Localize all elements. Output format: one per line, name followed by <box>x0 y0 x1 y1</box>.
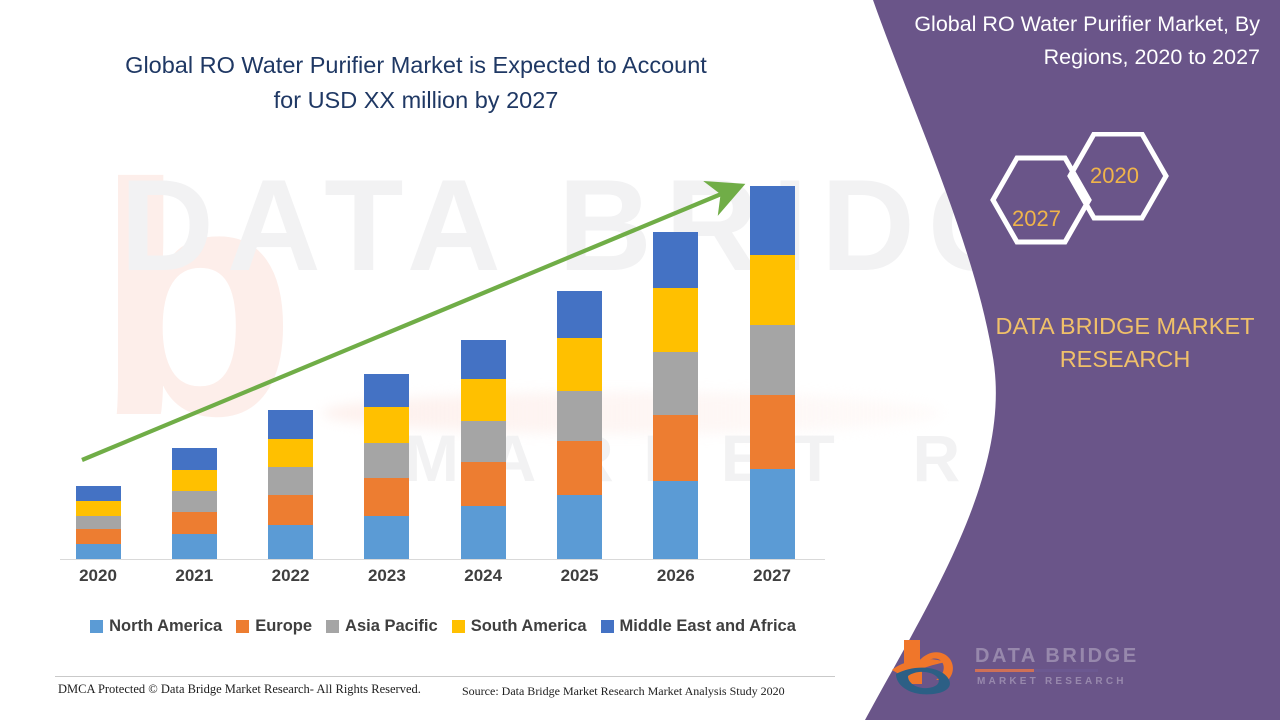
hexagon-label-2027: 2027 <box>1012 206 1061 232</box>
legend-swatch-icon <box>601 620 614 633</box>
slide-canvas: b DATA BRIDGE MARKET RESEARCH Global RO … <box>0 0 1280 720</box>
legend-swatch-icon <box>452 620 465 633</box>
hexagon-shapes <box>980 132 1180 272</box>
chart-title-line-2: for USD XX million by 2027 <box>66 83 766 118</box>
chart-title: Global RO Water Purifier Market is Expec… <box>66 48 766 118</box>
x-axis-labels: 20202021202220232024202520262027 <box>60 566 825 596</box>
logo-underline <box>975 669 1098 672</box>
x-axis-label-2025: 2025 <box>544 566 616 586</box>
logo-wordmark: DATA BRIDGE <box>975 645 1139 668</box>
brand-name-line-1: DATA BRIDGE MARKET <box>975 310 1275 343</box>
footer-copyright: DMCA Protected © Data Bridge Market Rese… <box>58 682 421 697</box>
x-axis-label-2027: 2027 <box>736 566 808 586</box>
x-axis-label-2023: 2023 <box>351 566 423 586</box>
hexagon-label-2020: 2020 <box>1090 163 1139 189</box>
legend-item-asia-pacific[interactable]: Asia Pacific <box>326 617 438 636</box>
x-axis-label-2024: 2024 <box>447 566 519 586</box>
legend-item-europe[interactable]: Europe <box>236 617 312 636</box>
legend-label: Middle East and Africa <box>620 617 796 636</box>
legend-swatch-icon <box>326 620 339 633</box>
x-axis-label-2022: 2022 <box>255 566 327 586</box>
legend-label: North America <box>109 617 222 636</box>
footer-source: Source: Data Bridge Market Research Mark… <box>462 684 785 699</box>
legend-item-south-america[interactable]: South America <box>452 617 587 636</box>
legend-label: Asia Pacific <box>345 617 438 636</box>
panel-title-line-2: Regions, 2020 to 2027 <box>855 41 1260 74</box>
chart-legend: North AmericaEuropeAsia PacificSouth Ame… <box>60 613 826 639</box>
legend-label: South America <box>471 617 587 636</box>
x-axis-label-2021: 2021 <box>158 566 230 586</box>
chart-title-line-1: Global RO Water Purifier Market is Expec… <box>66 48 766 83</box>
panel-title-line-1: Global RO Water Purifier Market, By <box>855 8 1260 41</box>
legend-item-middle-east-and-africa[interactable]: Middle East and Africa <box>601 617 796 636</box>
legend-swatch-icon <box>236 620 249 633</box>
legend-swatch-icon <box>90 620 103 633</box>
hexagon-group: 2027 2020 <box>980 132 1180 272</box>
x-axis-label-2020: 2020 <box>62 566 134 586</box>
legend-item-north-america[interactable]: North America <box>90 617 222 636</box>
x-axis-label-2026: 2026 <box>640 566 712 586</box>
logo-subtitle: MARKET RESEARCH <box>977 676 1127 687</box>
footer-divider <box>55 676 835 677</box>
legend-label: Europe <box>255 617 312 636</box>
panel-title: Global RO Water Purifier Market, By Regi… <box>855 8 1270 74</box>
brand-name: DATA BRIDGE MARKET RESEARCH <box>975 310 1275 376</box>
growth-arrow <box>60 120 825 560</box>
brand-name-line-2: RESEARCH <box>975 343 1275 376</box>
